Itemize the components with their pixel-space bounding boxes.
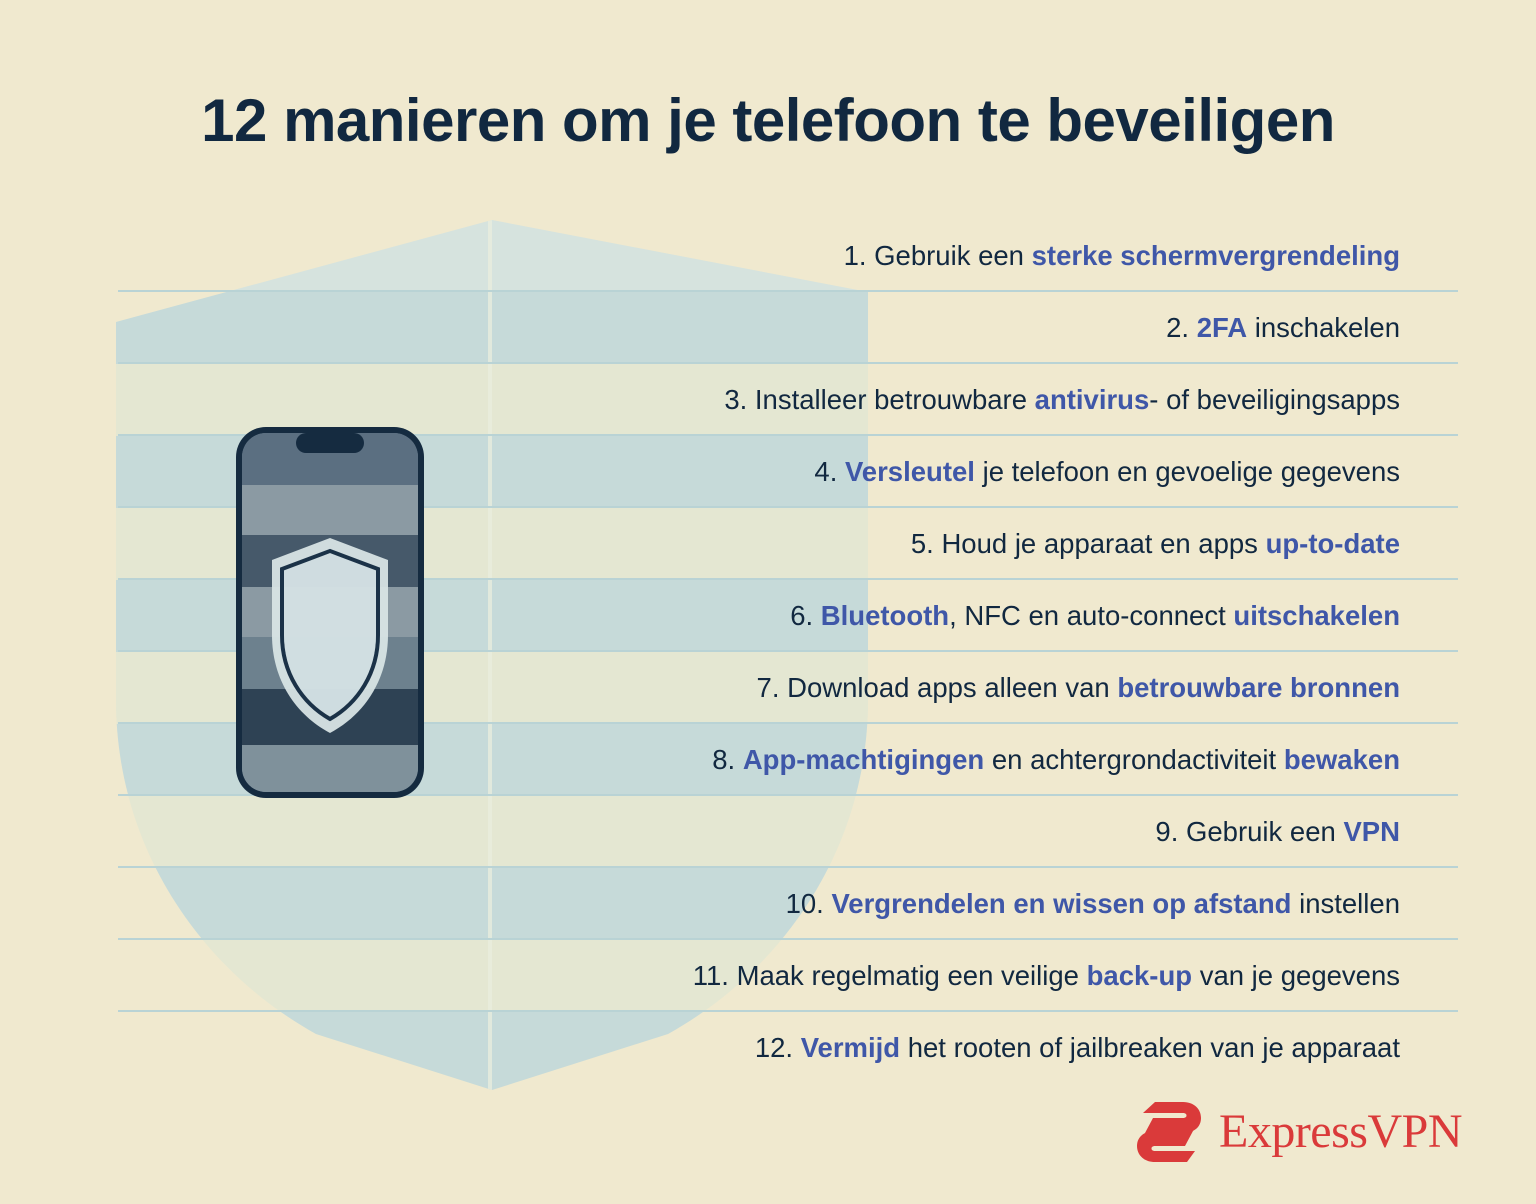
list-item-highlight: Bluetooth	[821, 600, 949, 631]
list-item-plain: Download apps alleen van	[787, 672, 1117, 703]
list-item-text: 2. 2FA inschakelen	[1166, 292, 1400, 364]
list-item-number: 2.	[1166, 312, 1197, 343]
list-item: 1. Gebruik een sterke schermvergrendelin…	[0, 220, 1536, 292]
list-item-highlight: App-machtigingen	[743, 744, 984, 775]
list-item-number: 3.	[724, 384, 755, 415]
list-item-text: 8. App-machtigingen en achtergrondactivi…	[712, 724, 1400, 796]
list-item-number: 12.	[755, 1032, 801, 1063]
list-item: 10. Vergrendelen en wissen op afstand in…	[0, 868, 1536, 940]
list-item-plain: - of beveiligingsapps	[1149, 384, 1400, 415]
list-item: 4. Versleutel je telefoon en gevoelige g…	[0, 436, 1536, 508]
list-item-highlight: Vergrendelen en wissen op afstand	[831, 888, 1291, 919]
list-item-highlight: bewaken	[1284, 744, 1400, 775]
list-item: 6. Bluetooth, NFC en auto-connect uitsch…	[0, 580, 1536, 652]
list-item: 2. 2FA inschakelen	[0, 292, 1536, 364]
expressvpn-logo: ExpressVPN	[1133, 1096, 1463, 1168]
list-item-plain: je telefoon en gevoelige gegevens	[975, 456, 1400, 487]
list-item: 12. Vermijd het rooten of jailbreaken va…	[0, 1012, 1536, 1084]
list-item-plain: inschakelen	[1247, 312, 1400, 343]
list-item-plain: , NFC en auto-connect	[949, 600, 1233, 631]
list-item-text: 3. Installeer betrouwbare antivirus- of …	[724, 364, 1400, 436]
list-item-highlight: betrouwbare bronnen	[1117, 672, 1400, 703]
list-item-text: 4. Versleutel je telefoon en gevoelige g…	[814, 436, 1400, 508]
list-item-plain: Maak regelmatig een veilige	[737, 960, 1087, 991]
list-item-text: 1. Gebruik een sterke schermvergrendelin…	[844, 220, 1400, 292]
logo-wordmark: ExpressVPN	[1219, 1108, 1462, 1156]
list-item-plain: van je gegevens	[1192, 960, 1400, 991]
list-item-number: 7.	[757, 672, 788, 703]
list-item: 8. App-machtigingen en achtergrondactivi…	[0, 724, 1536, 796]
list-item-text: 12. Vermijd het rooten of jailbreaken va…	[755, 1012, 1400, 1084]
list-item-highlight: Vermijd	[801, 1032, 900, 1063]
list-item-number: 8.	[712, 744, 743, 775]
list-item-text: 11. Maak regelmatig een veilige back-up …	[693, 940, 1400, 1012]
list-item-number: 11.	[693, 960, 737, 991]
list-item-number: 1.	[844, 240, 875, 271]
list-item-text: 7. Download apps alleen van betrouwbare …	[757, 652, 1400, 724]
list-item-highlight: 2FA	[1197, 312, 1247, 343]
list-item-highlight: Versleutel	[845, 456, 975, 487]
list-item-number: 9.	[1155, 816, 1186, 847]
list-item-highlight: uitschakelen	[1233, 600, 1400, 631]
list-item: 11. Maak regelmatig een veilige back-up …	[0, 940, 1536, 1012]
list-item: 9. Gebruik een VPN	[0, 796, 1536, 868]
list-item-highlight: VPN	[1343, 816, 1400, 847]
list-item-text: 6. Bluetooth, NFC en auto-connect uitsch…	[790, 580, 1400, 652]
list-item-highlight: antivirus	[1035, 384, 1150, 415]
list-item-plain: het rooten of jailbreaken van je apparaa…	[900, 1032, 1400, 1063]
list-item: 3. Installeer betrouwbare antivirus- of …	[0, 364, 1536, 436]
list-item-plain: en achtergrondactiviteit	[984, 744, 1284, 775]
smartphone-icon	[234, 425, 426, 800]
list-item-highlight: up-to-date	[1266, 528, 1400, 559]
list-item-plain: Installeer betrouwbare	[755, 384, 1035, 415]
list-item-number: 4.	[814, 456, 845, 487]
list-item-text: 5. Houd je apparaat en apps up-to-date	[911, 508, 1400, 580]
list-item-plain: Gebruik een	[1186, 816, 1343, 847]
list-item: 7. Download apps alleen van betrouwbare …	[0, 652, 1536, 724]
list-item: 5. Houd je apparaat en apps up-to-date	[0, 508, 1536, 580]
list-item-number: 6.	[790, 600, 821, 631]
list-item-number: 10.	[786, 888, 832, 919]
list-item-text: 10. Vergrendelen en wissen op afstand in…	[786, 868, 1400, 940]
infographic-page: 12 manieren om je telefoon te beveiligen	[0, 0, 1536, 1204]
list-item-number: 5.	[911, 528, 942, 559]
list-item-plain: Gebruik een	[874, 240, 1031, 271]
list-item-plain: Houd je apparaat en apps	[941, 528, 1265, 559]
list-item-highlight: back-up	[1087, 960, 1192, 991]
list-item-highlight: sterke schermvergrendeling	[1032, 240, 1400, 271]
expressvpn-e-mark-icon	[1133, 1100, 1205, 1164]
page-title: 12 manieren om je telefoon te beveiligen	[0, 86, 1536, 155]
tips-list: 1. Gebruik een sterke schermvergrendelin…	[0, 220, 1536, 1084]
list-item-plain: instellen	[1291, 888, 1400, 919]
list-item-text: 9. Gebruik een VPN	[1155, 796, 1400, 868]
